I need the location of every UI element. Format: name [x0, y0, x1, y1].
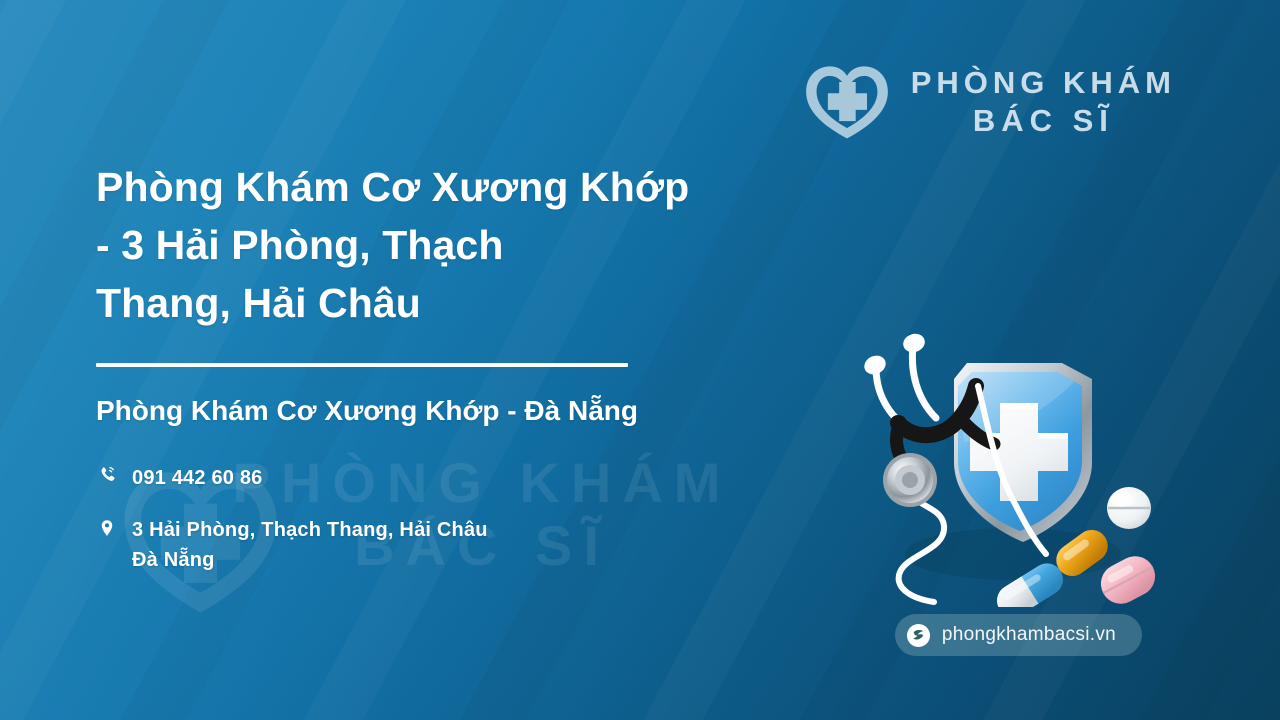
- contact-info: 091 442 60 86 3 Hải Phòng, Thạch Thang, …: [96, 463, 836, 575]
- headline-line-2: - 3 Hải Phòng, Thạch: [96, 216, 836, 274]
- brand-logo-text: PHÒNG KHÁM BÁC SĨ: [911, 64, 1176, 140]
- medical-illustration: [838, 322, 1168, 607]
- heart-cross-logo-icon: [801, 62, 893, 142]
- phone-call-icon: [96, 463, 118, 489]
- content-block: Phòng Khám Cơ Xương Khớp - 3 Hải Phòng, …: [96, 158, 836, 575]
- address-line-2: Đà Nẵng: [132, 545, 488, 575]
- website-badge[interactable]: phongkhambacsi.vn: [895, 614, 1142, 656]
- subtitle: Phòng Khám Cơ Xương Khớp - Đà Nẵng: [96, 393, 836, 429]
- pill-white-round-tablet: [1107, 487, 1151, 529]
- title-divider: [96, 363, 628, 367]
- clinic-banner: PHÒNG KHÁM BÁC SĨ PHÒNG KHÁM BÁC SĨ Phòn…: [0, 0, 1280, 720]
- stethoscope-chestpiece: [883, 453, 937, 507]
- logo-line-2: BÁC SĨ: [911, 102, 1176, 140]
- website-url: phongkhambacsi.vn: [942, 624, 1116, 646]
- address-line-1: 3 Hải Phòng, Thạch Thang, Hải Châu: [132, 519, 488, 541]
- headline-line-3: Thang, Hải Châu: [96, 274, 836, 332]
- address: 3 Hải Phòng, Thạch Thang, Hải Châu Đà Nẵ…: [132, 515, 488, 575]
- logo-line-1: PHÒNG KHÁM: [911, 64, 1176, 102]
- contact-row-address[interactable]: 3 Hải Phòng, Thạch Thang, Hải Châu Đà Nẵ…: [96, 515, 836, 575]
- globe-swirl-icon: [906, 623, 931, 648]
- contact-row-phone[interactable]: 091 442 60 86: [96, 463, 836, 493]
- brand-logo: PHÒNG KHÁM BÁC SĨ: [801, 62, 1176, 142]
- page-title: Phòng Khám Cơ Xương Khớp - 3 Hải Phòng, …: [96, 158, 836, 333]
- headline-line-1: Phòng Khám Cơ Xương Khớp: [96, 158, 836, 216]
- phone-number: 091 442 60 86: [132, 463, 263, 493]
- map-pin-icon: [96, 515, 118, 541]
